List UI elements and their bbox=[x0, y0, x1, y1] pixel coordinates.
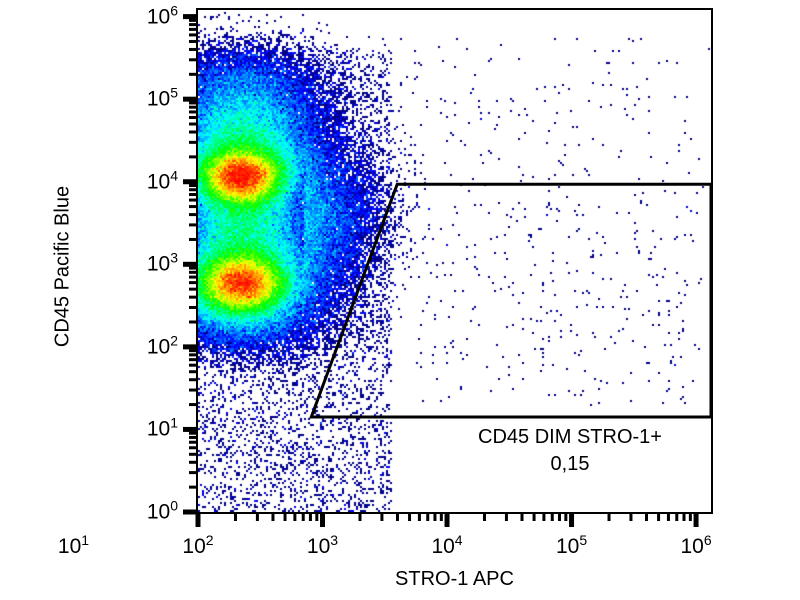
flow-cytometry-figure: 106105104103102101100 101102103104105106… bbox=[0, 0, 800, 600]
y-tick-label-0: 100 bbox=[147, 502, 178, 523]
y-tick-label-6: 106 bbox=[147, 6, 178, 27]
x-tick-label-2: 102 bbox=[182, 536, 213, 557]
gate-label: CD45 DIM STRO-1+ bbox=[430, 424, 710, 451]
x-tick-label-6: 106 bbox=[680, 536, 711, 557]
gate-annotation: CD45 DIM STRO-1+ 0,15 bbox=[430, 424, 710, 478]
gate-value: 0,15 bbox=[430, 451, 710, 478]
x-tick-label-1: 101 bbox=[58, 536, 89, 557]
x-tick-label-4: 104 bbox=[431, 536, 462, 557]
y-axis-title: CD45 Pacific Blue bbox=[52, 152, 75, 382]
y-tick-label-1: 101 bbox=[147, 419, 178, 440]
y-tick-label-2: 102 bbox=[147, 336, 178, 357]
x-axis-title: STRO-1 APC bbox=[196, 568, 713, 591]
y-tick-label-4: 104 bbox=[147, 171, 178, 192]
x-tick-label-3: 103 bbox=[307, 536, 338, 557]
x-tick-label-5: 105 bbox=[556, 536, 587, 557]
y-tick-label-3: 103 bbox=[147, 254, 178, 275]
y-tick-label-5: 105 bbox=[147, 89, 178, 110]
